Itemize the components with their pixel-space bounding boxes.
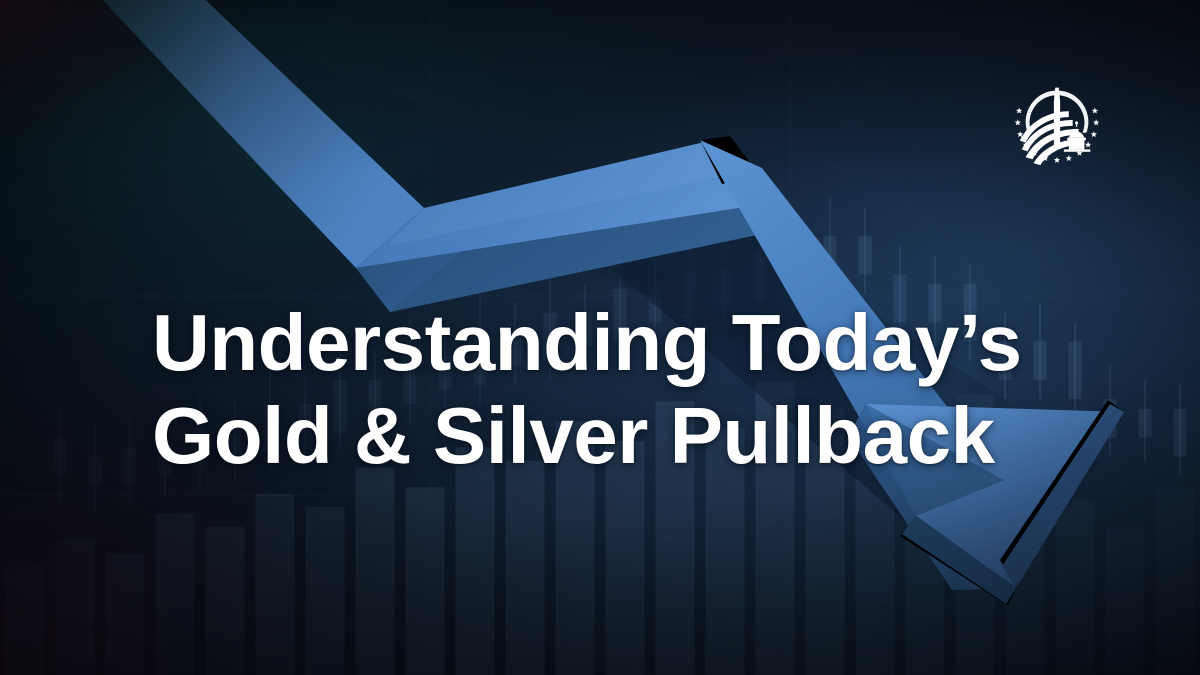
- emblem-star: [1015, 119, 1021, 125]
- page-title: Understanding Today’s Gold & Silver Pull…: [152, 296, 1052, 482]
- emblem-star: [1066, 155, 1072, 161]
- emblem-star: [1093, 119, 1099, 125]
- emblem-star: [1054, 157, 1060, 163]
- emblem-star: [1092, 108, 1098, 114]
- emblem-star: [1016, 108, 1022, 114]
- title-line-1: Understanding Today’s: [152, 296, 1052, 389]
- title-line-2: Gold & Silver Pullback: [152, 389, 1052, 482]
- emblem-star: [1085, 142, 1091, 148]
- capitol-monument-emblem-icon: [1008, 72, 1106, 170]
- emblem-star: [1091, 131, 1097, 137]
- banner-canvas: Understanding Today’s Gold & Silver Pull…: [0, 0, 1200, 675]
